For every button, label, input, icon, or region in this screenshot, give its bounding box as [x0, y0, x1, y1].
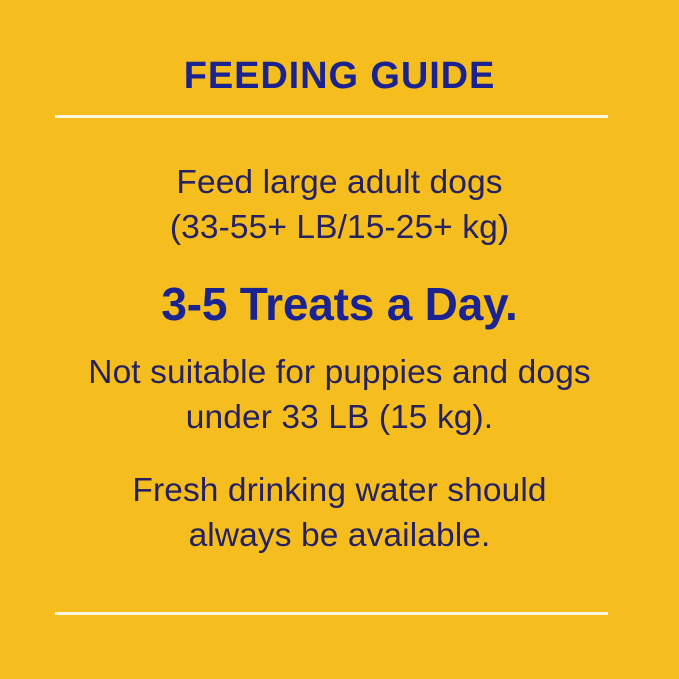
page-title: FEEDING GUIDE	[0, 54, 679, 98]
intro-paragraph: Feed large adult dogs (33-55+ LB/15-25+ …	[0, 160, 679, 250]
treats-per-day-headline: 3-5 Treats a Day.	[0, 276, 679, 332]
warning-paragraph: Not suitable for puppies and dogs under …	[0, 350, 679, 440]
spacer-warning-water	[0, 440, 679, 468]
divider-top	[55, 115, 608, 118]
feeding-guide-panel: FEEDING GUIDE Feed large adult dogs (33-…	[0, 0, 679, 679]
water-line-1: Fresh drinking water should	[0, 468, 679, 513]
water-line-2: always be available.	[0, 513, 679, 558]
intro-line-2: (33-55+ LB/15-25+ kg)	[0, 205, 679, 250]
feeding-guide-content: Feed large adult dogs (33-55+ LB/15-25+ …	[0, 160, 679, 558]
spacer-headline-warning	[0, 332, 679, 350]
spacer-intro-headline	[0, 250, 679, 276]
warning-line-2: under 33 LB (15 kg).	[0, 395, 679, 440]
warning-line-1: Not suitable for puppies and dogs	[0, 350, 679, 395]
divider-bottom	[55, 612, 608, 615]
intro-line-1: Feed large adult dogs	[0, 160, 679, 205]
water-paragraph: Fresh drinking water should always be av…	[0, 468, 679, 558]
